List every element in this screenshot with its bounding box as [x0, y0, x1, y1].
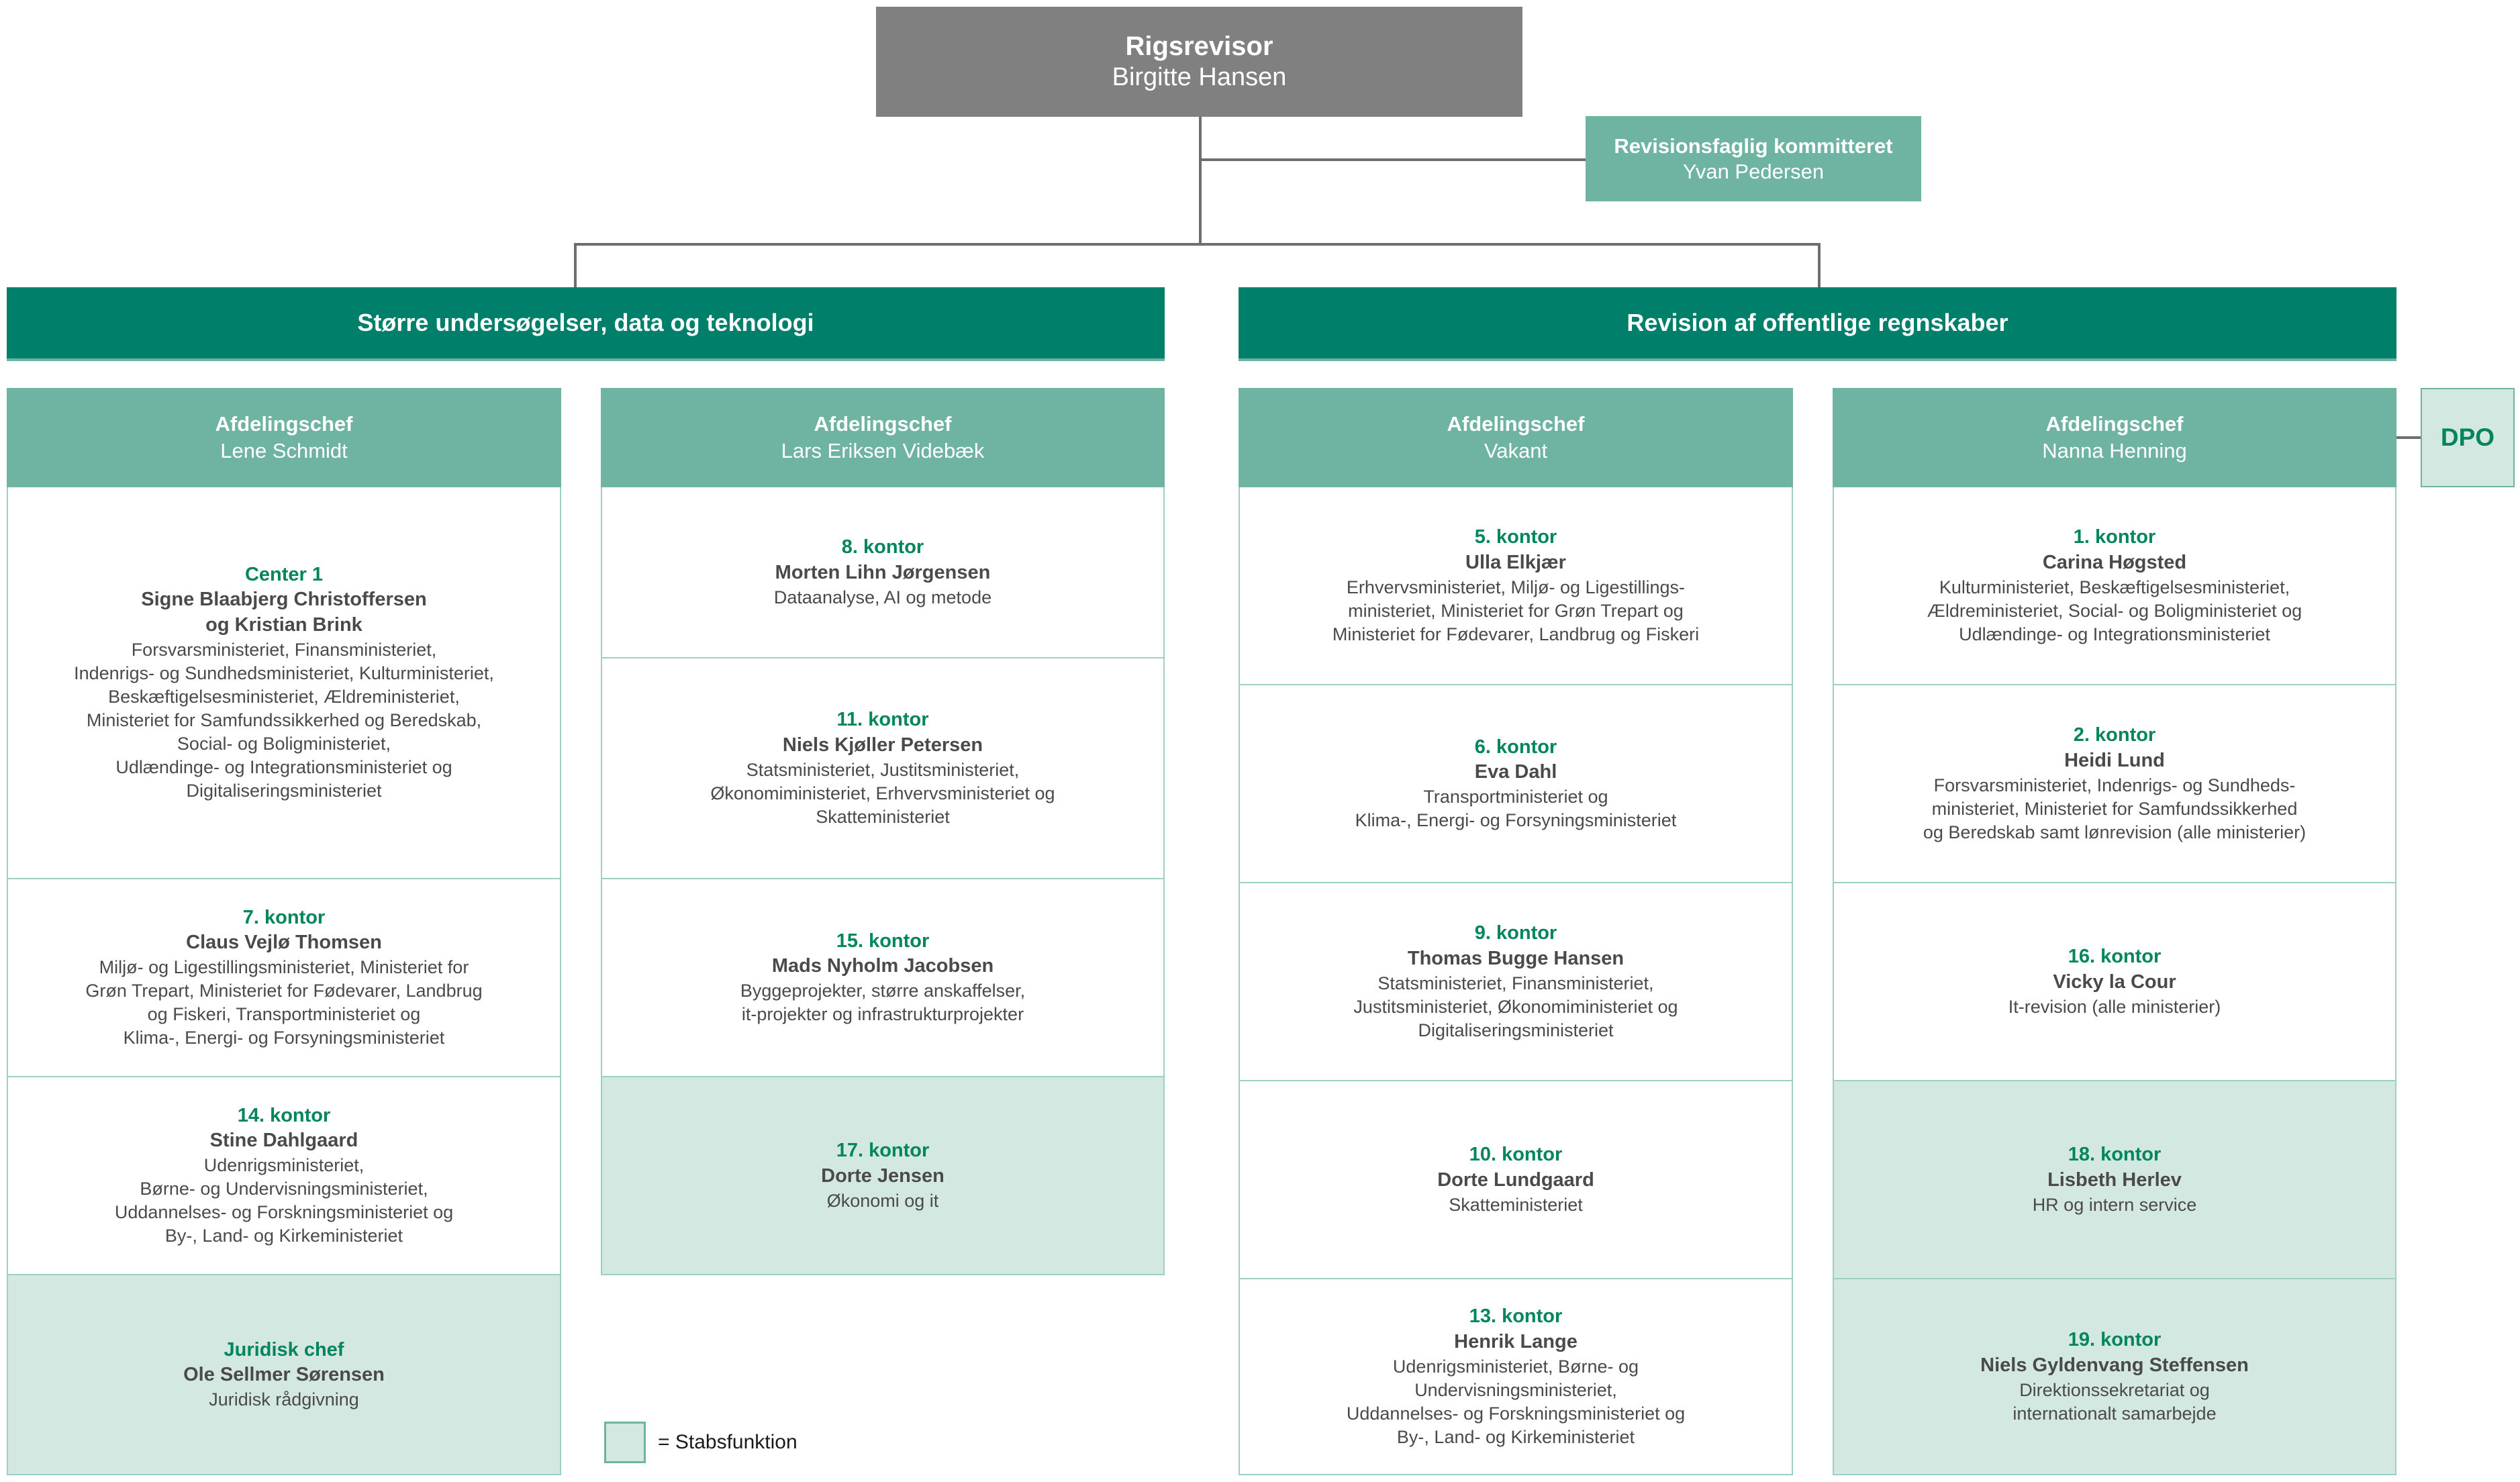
unit-15-kontor[interactable]: 15. kontor Mads Nyholm Jacobsen Byggepro… — [601, 879, 1165, 1077]
unit-kontor: 1. kontor — [2074, 525, 2155, 550]
unit-11-kontor[interactable]: 11. kontor Niels Kjøller Petersen Statsm… — [601, 658, 1165, 879]
chief-role: Afdelingschef — [1447, 411, 1585, 438]
unit-person: Heidi Lund — [2064, 748, 2165, 774]
unit-juridisk-chef[interactable]: Juridisk chef Ole Sellmer Sørensen Jurid… — [7, 1275, 561, 1475]
unit-2-kontor[interactable]: 2. kontor Heidi Lund Forsvarsministeriet… — [1833, 685, 2396, 883]
department-band-1[interactable]: Større undersøgelser, data og teknologi — [7, 287, 1165, 361]
unit-13-kontor[interactable]: 13. kontor Henrik Lange Udenrigsminister… — [1239, 1279, 1793, 1475]
unit-1-kontor[interactable]: 1. kontor Carina Høgsted Kulturministeri… — [1833, 487, 2396, 685]
unit-desc: Statsministeriet, Justitsministeriet,Øko… — [710, 758, 1055, 829]
chief-header-lene-schmidt[interactable]: Afdelingschef Lene Schmidt — [7, 388, 561, 487]
rigsrevisor-name: Birgitte Hansen — [1112, 62, 1287, 93]
connector-root-vertical — [1199, 117, 1202, 244]
unit-kontor: 13. kontor — [1469, 1304, 1563, 1330]
department-band-2[interactable]: Revision af offentlige regnskaber — [1239, 287, 2396, 361]
unit-desc: Juridisk rådgivning — [209, 1388, 359, 1412]
unit-16-kontor[interactable]: 16. kontor Vicky la Cour It-revision (al… — [1833, 883, 2396, 1081]
unit-desc: Dataanalyse, AI og metode — [774, 586, 991, 609]
committee-box[interactable]: Revisionsfaglig kommitteret Yvan Pederse… — [1586, 116, 1921, 201]
unit-kontor: Center 1 — [245, 562, 323, 588]
committee-name: Yvan Pedersen — [1683, 159, 1824, 185]
unit-18-kontor[interactable]: 18. kontor Lisbeth Herlev HR og intern s… — [1833, 1081, 2396, 1279]
unit-desc: Udenrigsministeriet,Børne- og Undervisni… — [115, 1154, 453, 1248]
unit-desc: Statsministeriet, Finansministeriet,Just… — [1353, 972, 1678, 1042]
chief-role: Afdelingschef — [2046, 411, 2184, 438]
unit-kontor: 17. kontor — [836, 1138, 930, 1164]
rigsrevisor-title: Rigsrevisor — [1125, 31, 1273, 62]
unit-person: Morten Lihn Jørgensen — [775, 560, 991, 586]
connector-dept2-vertical — [1818, 243, 1821, 287]
unit-desc: Skatteministeriet — [1449, 1193, 1583, 1217]
connector-dpo-horizontal — [2396, 436, 2421, 439]
legend: = Stabsfunktion — [604, 1422, 797, 1463]
unit-desc: It-revision (alle ministerier) — [2008, 995, 2221, 1019]
unit-desc: Forsvarsministeriet, Indenrigs- og Sundh… — [1923, 774, 2306, 844]
unit-5-kontor[interactable]: 5. kontor Ulla Elkjær Erhvervsministerie… — [1239, 487, 1793, 685]
unit-kontor: 7. kontor — [243, 905, 325, 931]
unit-desc: Kulturministeriet, Beskæftigelsesministe… — [1927, 576, 2302, 646]
unit-kontor: 19. kontor — [2068, 1328, 2162, 1353]
unit-kontor: 9. kontor — [1475, 921, 1557, 946]
unit-desc: Direktionssekretariat oginternationalt s… — [2013, 1379, 2216, 1426]
unit-person: Dorte Jensen — [821, 1164, 944, 1189]
unit-kontor: 8. kontor — [842, 535, 924, 560]
unit-kontor: 6. kontor — [1475, 735, 1557, 760]
chief-name: Vakant — [1484, 438, 1547, 464]
unit-kontor: 16. kontor — [2068, 944, 2162, 970]
unit-desc: Byggeprojekter, større anskaffelser,it-p… — [740, 979, 1025, 1026]
unit-desc: Økonomi og it — [827, 1189, 939, 1213]
unit-19-kontor[interactable]: 19. kontor Niels Gyldenvang Steffensen D… — [1833, 1279, 2396, 1475]
unit-person: Stine Dahlgaard — [210, 1128, 358, 1154]
chief-role: Afdelingschef — [814, 411, 952, 438]
unit-desc: Forsvarsministeriet, Finansministeriet,I… — [74, 638, 494, 803]
unit-7-kontor[interactable]: 7. kontor Claus Vejlø Thomsen Miljø- og … — [7, 879, 561, 1077]
unit-person: Niels Gyldenvang Steffensen — [1980, 1353, 2249, 1379]
unit-kontor: Juridisk chef — [224, 1338, 344, 1363]
unit-person: Dorte Lundgaard — [1437, 1168, 1594, 1193]
unit-person: Carina Høgsted — [2043, 550, 2186, 576]
rigsrevisor-box[interactable]: Rigsrevisor Birgitte Hansen — [876, 7, 1522, 117]
chief-header-lars-eriksen-videbaek[interactable]: Afdelingschef Lars Eriksen Videbæk — [601, 388, 1165, 487]
legend-label: = Stabsfunktion — [658, 1431, 797, 1454]
unit-desc: Transportministeriet ogKlima-, Energi- o… — [1355, 785, 1677, 832]
unit-person: Henrik Lange — [1454, 1330, 1578, 1355]
chief-header-vakant[interactable]: Afdelingschef Vakant — [1239, 388, 1793, 487]
unit-9-kontor[interactable]: 9. kontor Thomas Bugge Hansen Statsminis… — [1239, 883, 1793, 1081]
unit-6-kontor[interactable]: 6. kontor Eva Dahl Transportministeriet … — [1239, 685, 1793, 883]
unit-17-kontor[interactable]: 17. kontor Dorte Jensen Økonomi og it — [601, 1077, 1165, 1275]
unit-14-kontor[interactable]: 14. kontor Stine Dahlgaard Udenrigsminis… — [7, 1077, 561, 1275]
unit-kontor: 14. kontor — [238, 1103, 331, 1129]
unit-person: Ole Sellmer Sørensen — [183, 1363, 385, 1388]
unit-person: Lisbeth Herlev — [2047, 1168, 2182, 1193]
unit-8-kontor[interactable]: 8. kontor Morten Lihn Jørgensen Dataanal… — [601, 487, 1165, 658]
chief-role: Afdelingschef — [215, 411, 353, 438]
connector-split-horizontal — [574, 243, 1821, 246]
unit-person: Niels Kjøller Petersen — [783, 733, 983, 758]
unit-kontor: 10. kontor — [1469, 1142, 1563, 1168]
chief-name: Lars Eriksen Videbæk — [781, 438, 985, 464]
org-chart-canvas: Rigsrevisor Birgitte Hansen Revisionsfag… — [0, 0, 2520, 1482]
unit-person: Ulla Elkjær — [1465, 550, 1566, 576]
chief-name: Lene Schmidt — [220, 438, 348, 464]
unit-desc: Miljø- og Ligestillingsministeriet, Mini… — [85, 956, 482, 1050]
unit-kontor: 11. kontor — [837, 707, 929, 733]
unit-kontor: 2. kontor — [2074, 723, 2155, 748]
committee-title: Revisionsfaglig kommitteret — [1614, 134, 1892, 159]
unit-kontor: 5. kontor — [1475, 525, 1557, 550]
unit-kontor: 18. kontor — [2068, 1142, 2162, 1168]
unit-person: Eva Dahl — [1475, 760, 1557, 785]
dpo-box[interactable]: DPO — [2421, 388, 2515, 487]
unit-person: Vicky la Cour — [2053, 970, 2176, 995]
unit-person: Mads Nyholm Jacobsen — [772, 954, 994, 979]
unit-10-kontor[interactable]: 10. kontor Dorte Lundgaard Skatteministe… — [1239, 1081, 1793, 1279]
unit-kontor: 15. kontor — [836, 929, 930, 954]
connector-committee-horizontal — [1199, 158, 1586, 161]
connector-dept1-vertical — [574, 243, 577, 287]
unit-desc: Udenrigsministeriet, Børne- ogUndervisni… — [1347, 1355, 1685, 1449]
unit-center-1[interactable]: Center 1 Signe Blaabjerg Christofferseno… — [7, 487, 561, 879]
unit-person: Thomas Bugge Hansen — [1408, 946, 1624, 972]
chief-name: Nanna Henning — [2042, 438, 2186, 464]
unit-person: Claus Vejlø Thomsen — [186, 930, 382, 956]
chief-header-nanna-henning[interactable]: Afdelingschef Nanna Henning — [1833, 388, 2396, 487]
legend-swatch-icon — [604, 1422, 646, 1463]
unit-desc: HR og intern service — [2033, 1193, 2197, 1217]
unit-person: Signe Blaabjerg Christoffersenog Kristia… — [141, 587, 426, 638]
unit-desc: Erhvervsministeriet, Miljø- og Ligestill… — [1332, 576, 1699, 646]
